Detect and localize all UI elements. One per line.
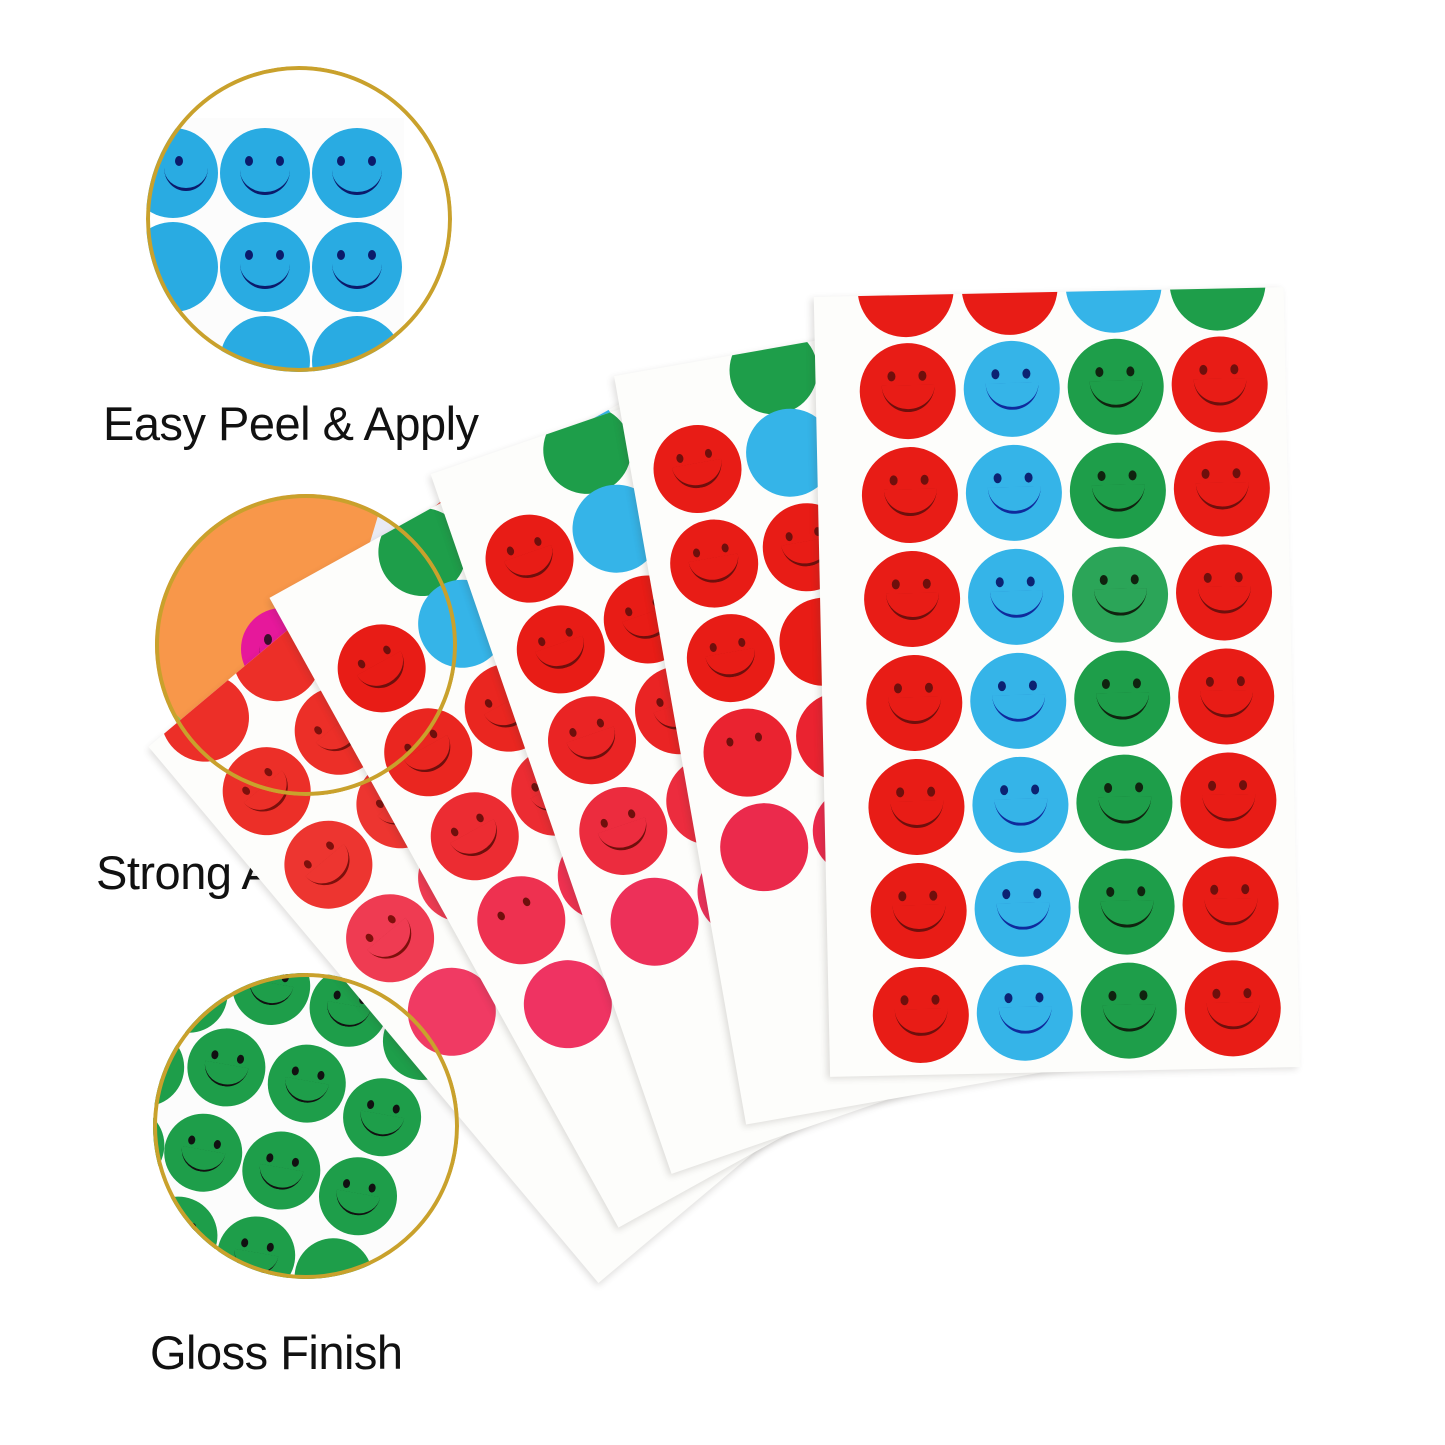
feature-thumbnail-easy-peel [146, 66, 452, 372]
blue-smiley-sticker [1065, 287, 1163, 334]
red-smiley-sticker [865, 654, 963, 752]
green-smiley-sticker [313, 1151, 403, 1241]
blue-smiley-sticker [312, 128, 402, 218]
red-smiley-sticker [697, 702, 799, 804]
green-smiley-sticker [1169, 287, 1267, 331]
red-smiley-sticker [961, 287, 1059, 336]
red-smiley-sticker [713, 796, 815, 898]
green-smiley-sticker [1067, 338, 1165, 436]
green-smiley-sticker [1071, 546, 1169, 644]
blue-smiley-sticker [963, 340, 1061, 438]
infographic-canvas: Easy Peel & Apply Strong Adhesive [0, 0, 1445, 1445]
green-smiley-sticker [153, 1022, 190, 1112]
green-smiley-sticker [1073, 650, 1171, 748]
feature-label-gloss-finish: Gloss Finish [150, 1325, 403, 1380]
red-smiley-sticker [1171, 336, 1269, 434]
green-smiley-sticker [337, 1072, 427, 1162]
blue-smiley-sticker [965, 444, 1063, 542]
red-smiley-sticker [1177, 647, 1275, 745]
red-smiley-sticker [1184, 959, 1282, 1057]
feature-label-easy-peel: Easy Peel & Apply [103, 396, 479, 451]
red-smiley-sticker [680, 607, 782, 709]
red-smiley-sticker [1175, 544, 1273, 642]
red-smiley-sticker [1179, 751, 1277, 849]
sticker-sheet-front [814, 287, 1300, 1077]
blue-smiley-sticker [312, 222, 402, 312]
red-smiley-sticker [872, 966, 970, 1064]
green-smiley-sticker [211, 1210, 301, 1279]
blue-smiley-sticker [976, 964, 1074, 1062]
red-smiley-sticker [867, 758, 965, 856]
green-smiley-sticker [226, 973, 316, 1031]
green-smiley-sticker [288, 1232, 378, 1279]
green-smiley-sticker [1080, 962, 1178, 1060]
green-smiley-sticker [262, 1038, 352, 1128]
green-smiley-sticker [236, 1125, 326, 1215]
green-smiley-sticker [153, 1190, 224, 1279]
red-smiley-sticker [1182, 855, 1280, 953]
red-smiley-sticker [859, 342, 957, 440]
red-smiley-sticker [647, 418, 749, 520]
red-smiley-sticker [863, 550, 961, 648]
blue-smiley-sticker [969, 652, 1067, 750]
green-smiley-sticker [1078, 858, 1176, 956]
red-smiley-sticker [1173, 440, 1271, 538]
red-smiley-sticker [861, 446, 959, 544]
red-smiley-sticker [870, 862, 968, 960]
green-smiley-sticker [158, 1108, 248, 1198]
red-smiley-sticker [599, 866, 711, 978]
blue-smiley-sticker [220, 222, 310, 312]
green-smiley-sticker [1075, 754, 1173, 852]
red-smiley-sticker [474, 503, 586, 615]
green-smiley-sticker [1069, 442, 1167, 540]
green-smiley-sticker [723, 319, 825, 421]
red-smiley-sticker [857, 287, 955, 338]
blue-smiley-sticker [967, 548, 1065, 646]
green-smiley-sticker [181, 1022, 271, 1112]
red-smiley-sticker [567, 775, 679, 887]
blue-smiley-sticker [971, 756, 1069, 854]
red-smiley-sticker [663, 513, 765, 615]
sticker-sheet-fan [500, 210, 1445, 1310]
blue-smiley-sticker [974, 860, 1072, 958]
red-smiley-sticker [536, 684, 648, 796]
red-smiley-sticker [505, 593, 617, 705]
blue-smiley-sticker [220, 128, 310, 218]
